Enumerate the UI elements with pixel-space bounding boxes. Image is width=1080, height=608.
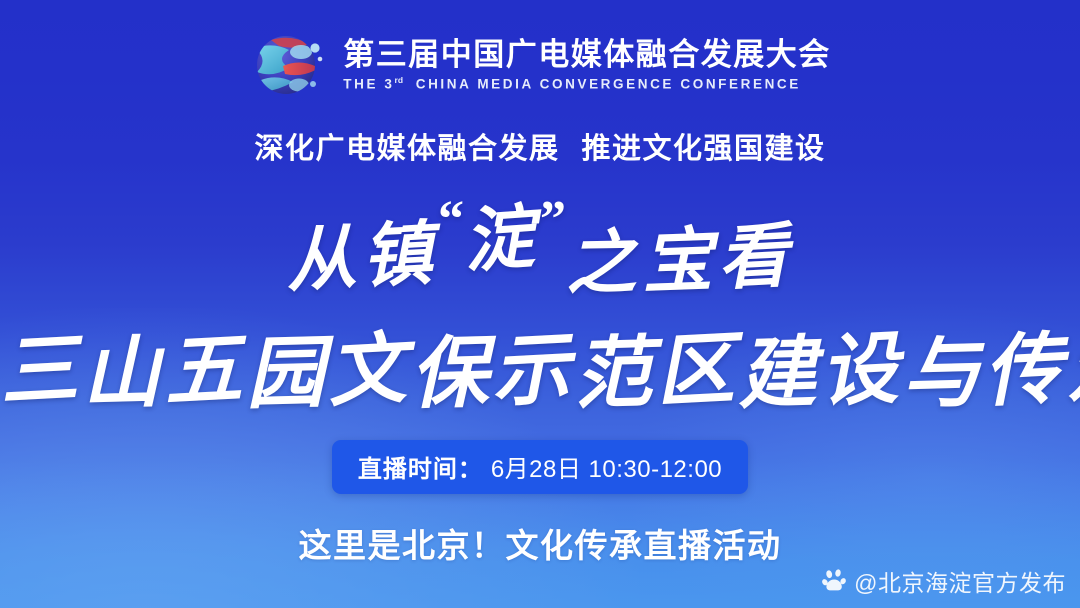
title-char: 传	[982, 330, 1068, 412]
baidu-paw-icon	[822, 568, 848, 594]
title-char: 建	[737, 334, 821, 414]
title-char: 文	[326, 330, 412, 412]
close-quote-mark: ”	[540, 194, 566, 246]
broadcast-time-value: 6月28日 10:30-12:00	[491, 449, 722, 484]
conference-name-en-prefix: THE 3	[343, 76, 394, 91]
conference-name-cn: 第三届中国广电媒体融合发展大会	[343, 39, 831, 72]
slogan-part-1: 深化广电媒体融合发展	[254, 133, 559, 165]
program-name: 这里是北京！文化传承直播活动	[0, 519, 1080, 567]
title-char: 设	[818, 330, 904, 412]
title-char: 与	[901, 334, 985, 414]
main-title-line-1: 从镇“淀”之宝看	[0, 222, 1080, 292]
main-title-line-2: 三山五园文保示范区建设与传承	[0, 332, 1080, 410]
title-char: 承	[1065, 334, 1080, 414]
title-char: 山	[81, 334, 165, 414]
title-char: 区	[654, 330, 740, 412]
watermark-handle: @北京海淀官方发布	[854, 564, 1066, 598]
conference-name-block: 第三届中国广电媒体融合发展大会 THE 3rd CHINA MEDIA CONV…	[343, 39, 831, 91]
conference-name-en: THE 3rd CHINA MEDIA CONVERGENCE CONFEREN…	[343, 75, 831, 92]
title-char: 三	[0, 330, 84, 412]
conference-name-en-ordinal: rd	[395, 75, 404, 85]
conference-name-en-rest: CHINA MEDIA CONVERGENCE CONFERENCE	[416, 76, 801, 91]
broadcast-time-label: 直播时间：	[358, 449, 483, 484]
open-quote-mark: “	[438, 194, 464, 246]
globe-sphere-logo-icon	[249, 26, 327, 104]
broadcast-badge-wrapper: 直播时间： 6月28日 10:30-12:00	[0, 440, 1080, 494]
title-char: 看	[716, 222, 796, 296]
title-highlight-char: 淀	[462, 203, 543, 278]
title-char: 范	[573, 334, 657, 414]
broadcast-time-badge: 直播时间： 6月28日 10:30-12:00	[332, 440, 748, 494]
title-char: 宝	[641, 227, 719, 300]
conference-slogan: 深化广电媒体融合发展推进文化强国建设	[0, 125, 1080, 167]
title-char: 园	[245, 334, 329, 414]
title-char: 从镇	[284, 220, 439, 298]
watermark: @北京海淀官方发布	[822, 564, 1066, 598]
slogan-part-2: 推进文化强国建设	[582, 133, 826, 165]
title-char: 之	[566, 229, 643, 300]
title-char: 五	[162, 330, 248, 412]
title-char: 保	[409, 334, 493, 414]
poster-canvas: 第三届中国广电媒体融合发展大会 THE 3rd CHINA MEDIA CONV…	[0, 0, 1080, 608]
conference-header: 第三届中国广电媒体融合发展大会 THE 3rd CHINA MEDIA CONV…	[0, 26, 1080, 104]
title-char: 示	[490, 330, 576, 412]
